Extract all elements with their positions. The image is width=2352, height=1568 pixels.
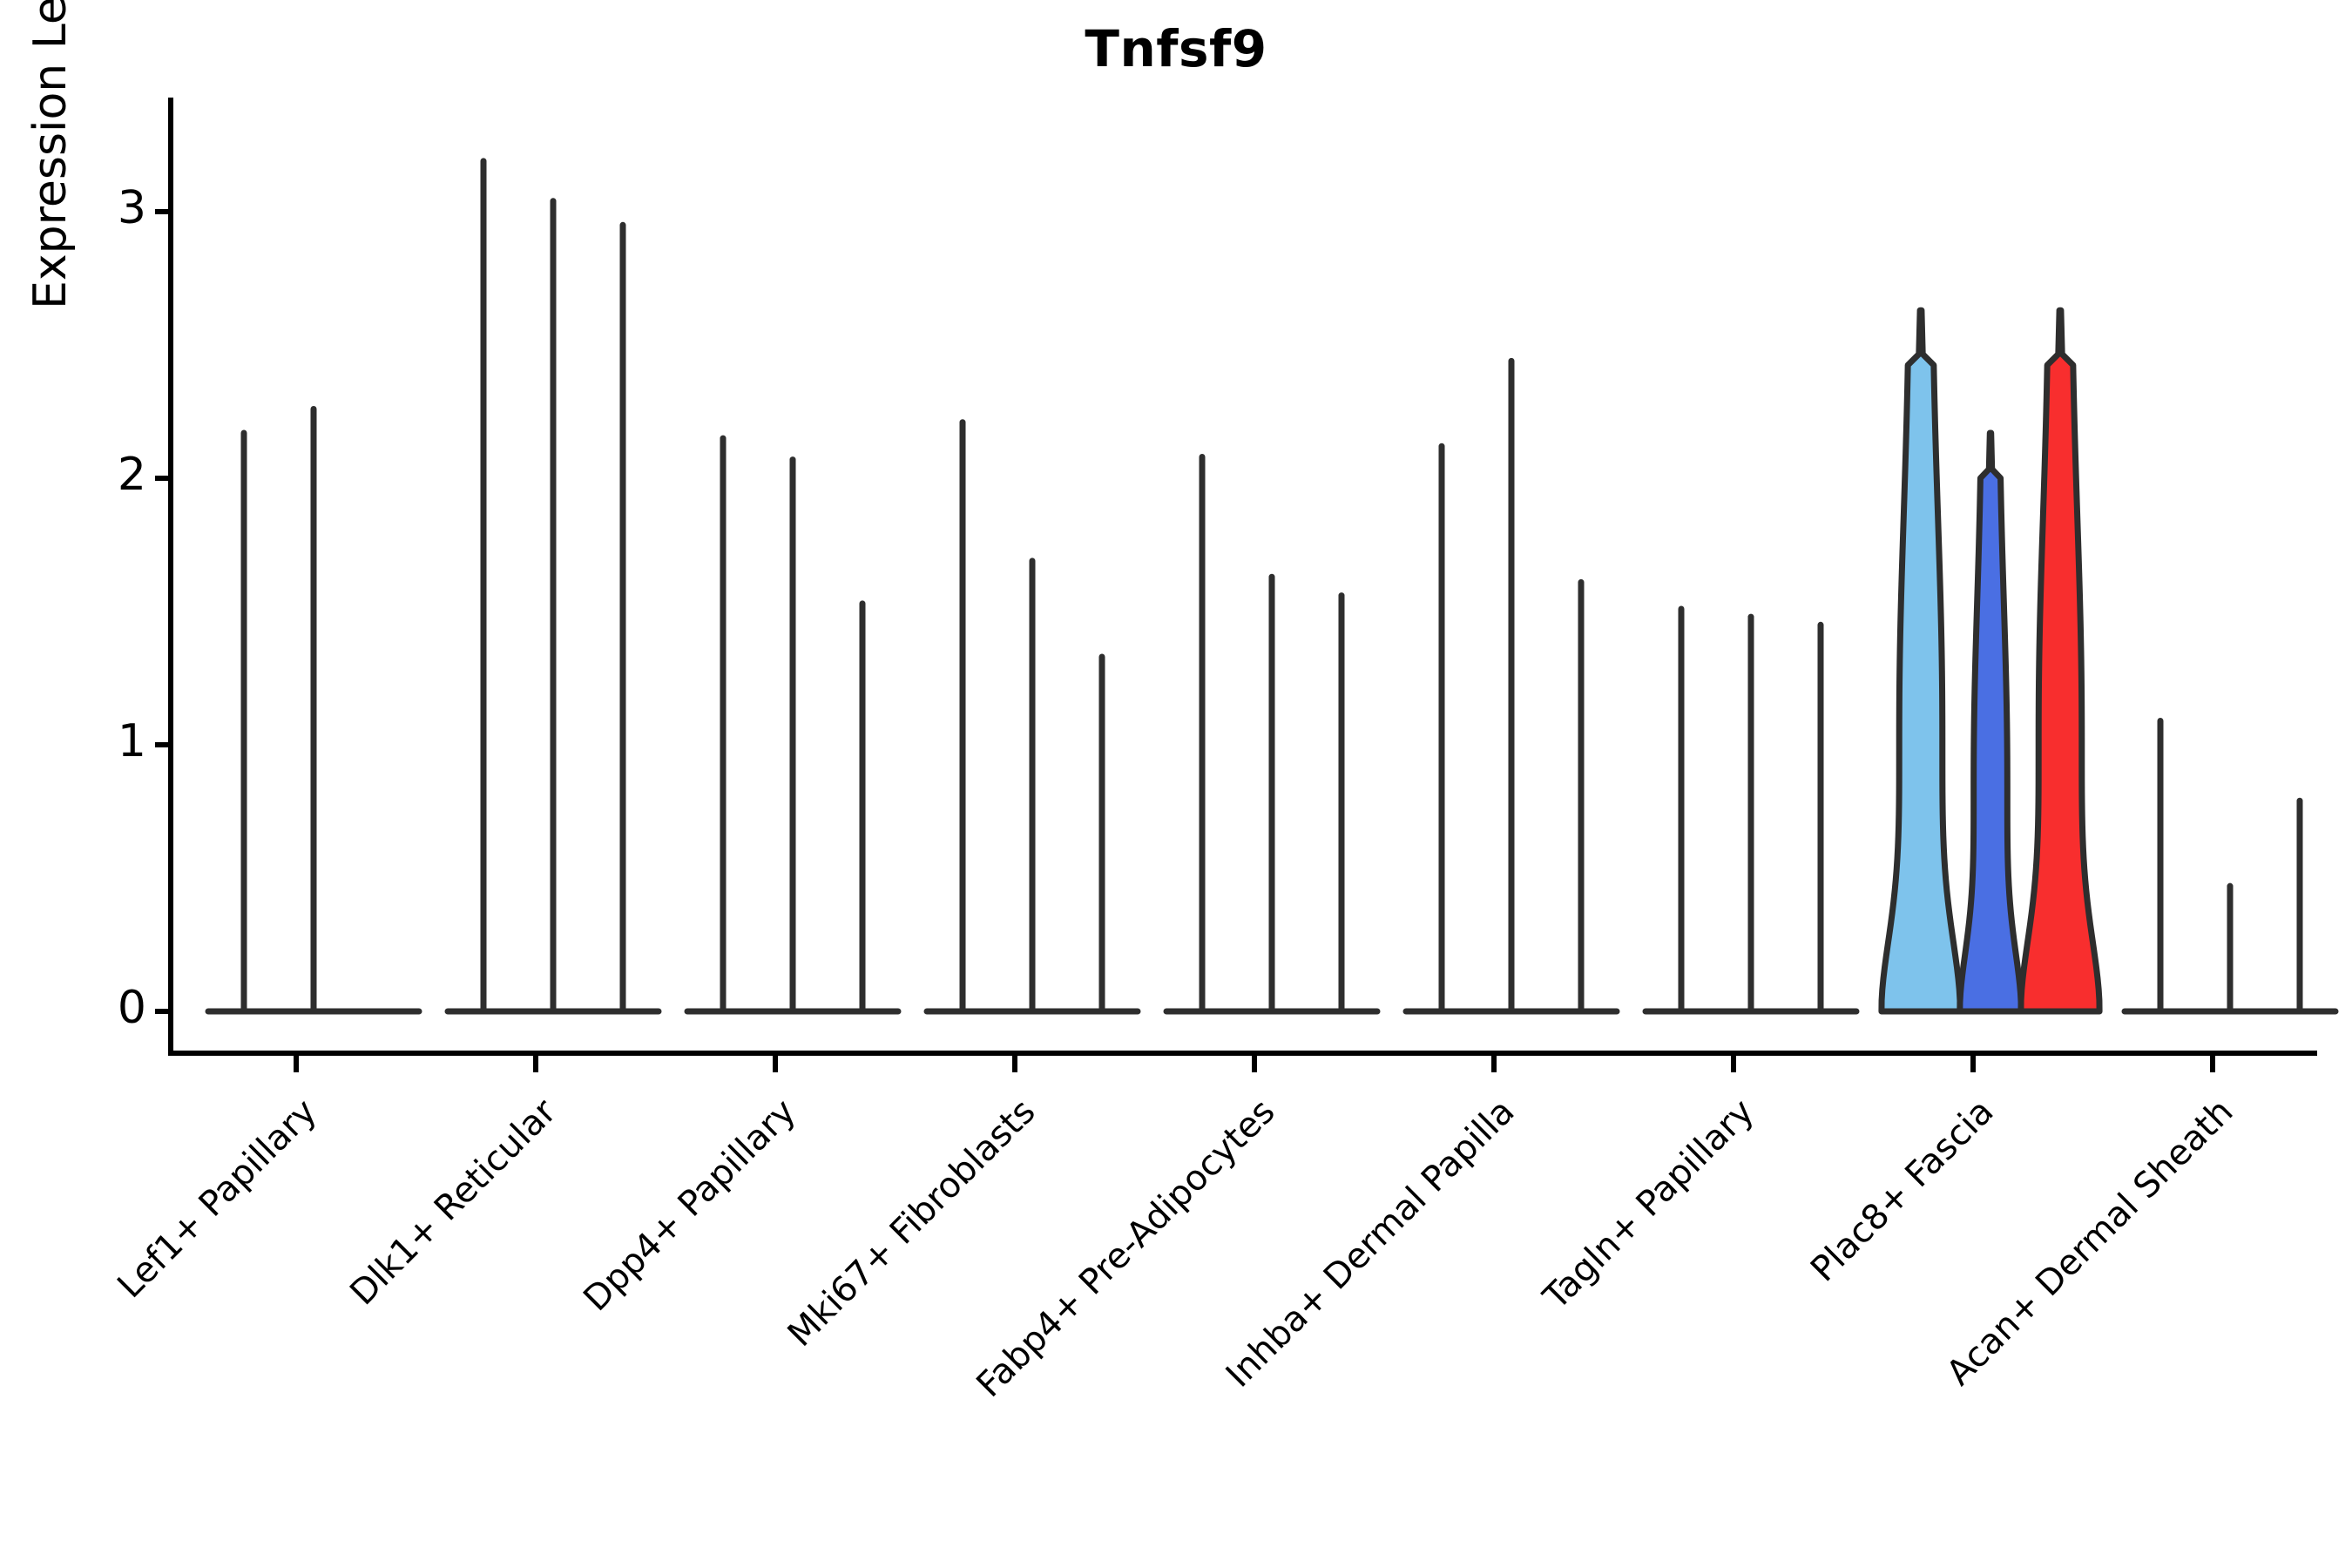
violin-group [1166,457,1377,1011]
violin-group [1882,310,2099,1011]
violin-group [687,438,898,1011]
violin-shape [1960,433,2021,1011]
violin-group [208,409,419,1011]
violin-group [927,422,1138,1011]
violin-plot-figure: Tnfsf9 Expression Level 0123 Lef1+ Papil… [0,0,2352,1568]
violin-shape [2021,310,2099,1011]
violin-group [448,161,659,1011]
violin-group [1406,361,1617,1011]
violin-shape [1882,310,1960,1011]
violin-group [2125,720,2335,1011]
violin-group [1646,609,1856,1011]
